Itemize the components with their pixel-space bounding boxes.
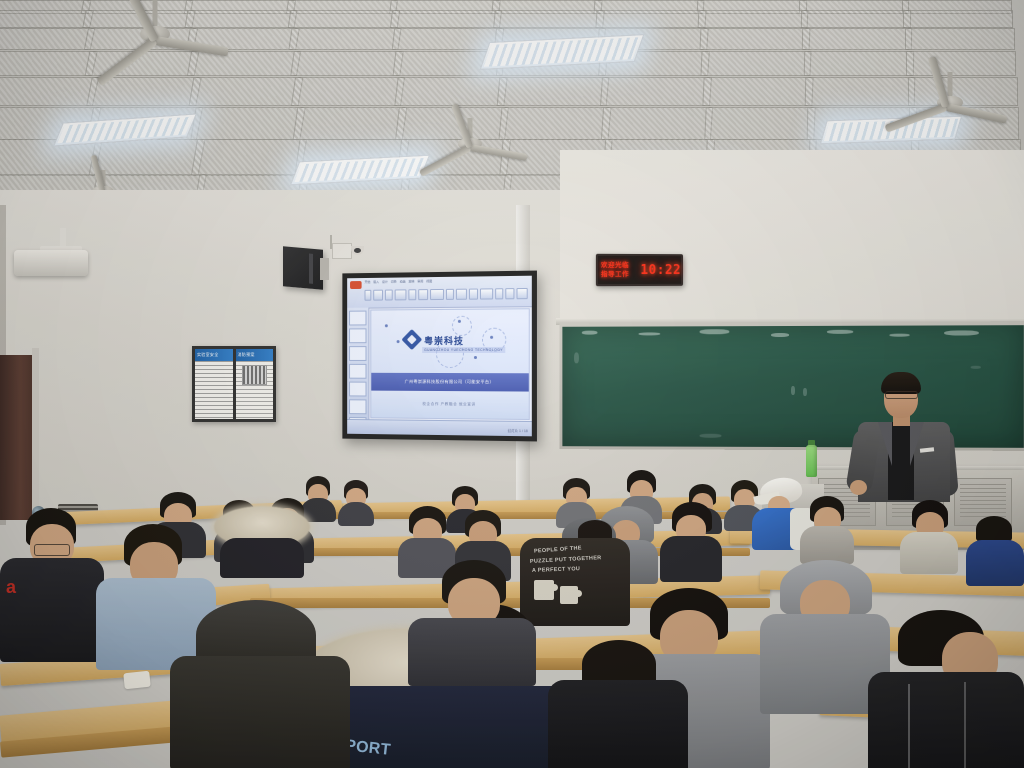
fan-blade [884,103,947,132]
paper-on-desk [123,671,151,690]
ceiling-tile [394,77,508,106]
projected-slide-surface: 开始 插入 设计 切换 动画 放映 审阅 视图 [347,276,532,437]
slide-thumbnail-pane[interactable] [347,308,369,421]
ceiling-tile [287,10,400,28]
company-logo-text: 粤崇科技 [424,334,464,347]
poster-left-header: 实验室安全 [195,349,233,361]
slide-title-text: 广州粤崇源科技股份有限公司（可能安平台） [405,379,494,385]
fan-blade [945,103,1007,124]
slide-upper-graphic: 粤崇科技 GUANGZHOU YUECHONG TECHNOLOGY [371,309,528,373]
ribbon-tab-label: 动画 [400,279,406,283]
ceiling-tile [601,107,714,140]
ceiling-tile [698,10,809,28]
ceiling-fan [880,72,1020,132]
presenter-hand [850,480,867,495]
student [868,610,1024,768]
ceiling-tile [493,10,605,28]
student [800,496,854,560]
led-scroll-text: 欢迎光临 指导工作 [598,256,640,284]
student [900,500,958,570]
drink-bottle [806,445,817,477]
blazer-lapel-right [910,422,924,466]
student [170,600,350,768]
student [408,560,536,680]
poster-left-body [195,361,233,419]
camera-junction-box [332,243,352,259]
led-text-line-2: 指导工作 [601,270,640,279]
poster-right-body [236,361,274,419]
classroom-door[interactable] [0,355,36,520]
ceiling-tile [699,28,810,50]
blazer-lapel-left [878,422,892,466]
app-logo-icon [350,281,362,289]
slide-counter: 幻灯片 1 / 18 [508,428,528,433]
puzzle-piece-graphic [534,580,554,600]
student [660,502,722,578]
student-fur-hood [212,502,310,574]
ribbon-tab-label: 插入 [373,280,379,284]
ribbon-tab-label: 放映 [408,279,414,283]
wall-poster-frame: 实验室安全 消防预案 [192,346,276,422]
led-text-line-1: 欢迎光临 [601,261,640,270]
ribbon-tab-label: 审阅 [417,279,423,283]
ceiling-tile [290,51,404,76]
slide-footer: 校企合作 产教融合 就业宣讲 [371,391,528,419]
poster-right-header: 消防预案 [236,349,274,361]
projection-screen: 开始 插入 设计 切换 动画 放映 审阅 视图 [342,271,537,442]
student: a [0,508,104,658]
student [966,516,1024,582]
slide-canvas: 粤崇科技 GUANGZHOU YUECHONG TECHNOLOGY 广州粤崇源… [370,308,529,420]
ribbon-tab-label: 切换 [391,280,397,284]
slide-thumbnail[interactable] [349,382,366,397]
glasses-icon [34,544,70,556]
ceiling-tile [0,77,100,106]
ceiling-tile [903,10,1013,28]
speaker-bracket [320,258,329,280]
ribbon-tab-label: 视图 [426,279,432,283]
fan-blade [469,144,527,161]
slide-thumbnail[interactable] [349,311,366,326]
presenter-glasses-icon [885,391,918,399]
jacket-logo-text: a [6,578,16,597]
ceiling-tile [595,10,707,28]
black-jacket [0,558,104,662]
door-frame [32,348,39,523]
ceiling-projector [14,250,88,276]
presentation-ribbon: 开始 插入 设计 切换 动画 放映 审阅 视图 [347,276,532,309]
ceiling-tile [497,77,610,106]
wall-speaker [283,246,323,289]
led-time-display: 10:22 [640,263,681,278]
presentation-status-bar: 幻灯片 1 / 18 [347,419,532,436]
slide-thumbnail[interactable] [349,399,366,414]
ceiling-tile [701,51,812,76]
ceiling-tile [291,77,406,106]
led-clock-banner: 欢迎光临 指导工作 10:22 [596,254,683,286]
poster-right: 消防预案 [236,349,274,419]
ribbon-tab-label: 开始 [365,280,371,284]
ceiling-tile [293,107,408,140]
ceiling-tile [801,10,912,28]
company-logo-icon [401,329,422,350]
slide-footer-text: 校企合作 产教融合 就业宣讲 [422,402,475,407]
presenter [848,372,968,500]
ceiling-tile [704,107,816,140]
ceiling-tile [600,77,712,106]
student [548,640,688,768]
ceiling-tile [390,10,502,28]
ceiling-fan [80,0,230,62]
poster-diagram [242,365,267,385]
ceiling-tile [189,77,304,106]
slide-title-band: 广州粤崇源科技股份有限公司（可能安平台） [371,372,528,391]
slide-thumbnail[interactable] [349,364,366,379]
ceiling-tile [289,28,402,50]
ceiling-tile [905,28,1016,50]
ceiling-fan [410,118,530,170]
slide-thumbnail[interactable] [349,346,366,361]
lecture-hall-photo: 实验室安全 消防预案 开始 插入 设计 切换 动画 放映 审阅 [0,0,1024,768]
ceiling-tile [191,139,308,176]
company-logo-subtext: GUANGZHOU YUECHONG TECHNOLOGY [422,347,505,353]
black-puffer-jacket [868,672,1024,768]
student [338,480,374,522]
ceiling-tile [802,28,913,50]
fan-blade [154,36,228,56]
slide-thumbnail[interactable] [349,328,366,343]
ribbon-tab-label: 设计 [382,280,388,284]
poster-left: 实验室安全 [195,349,233,419]
ceiling-tile [702,77,814,106]
